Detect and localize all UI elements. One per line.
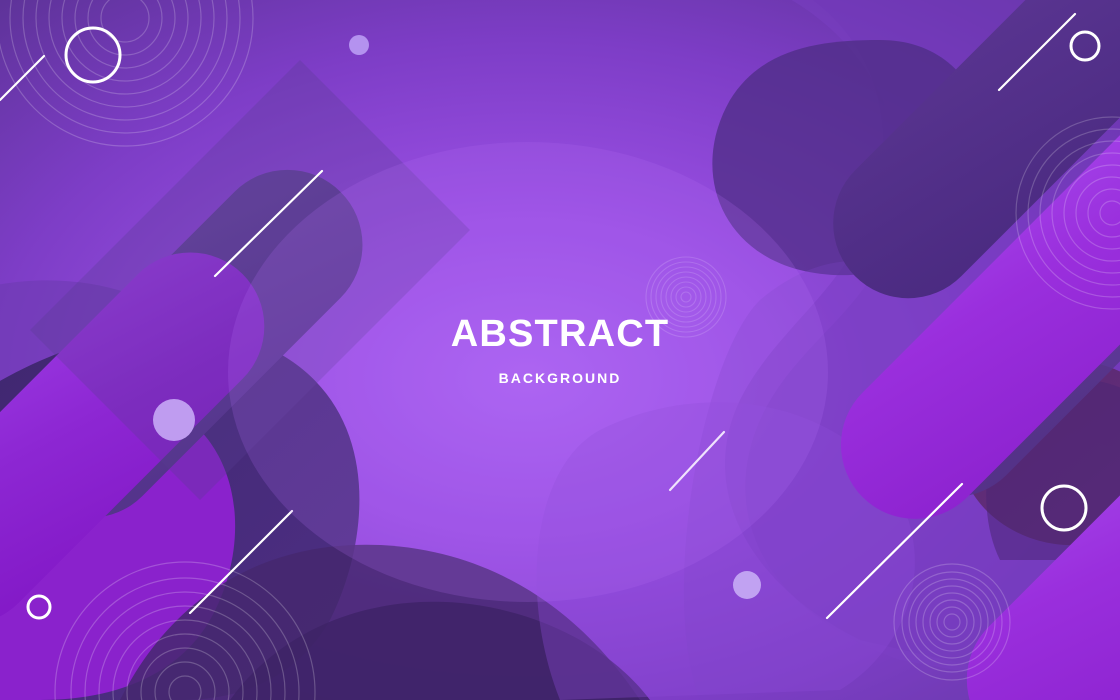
dot-mid-left [153,399,195,441]
abstract-background-canvas: ABSTRACT BACKGROUND [0,0,1120,700]
center-glow [228,142,828,602]
dot-top-center [349,35,369,55]
background-artwork [0,0,1120,700]
dot-bottom-center [733,571,761,599]
